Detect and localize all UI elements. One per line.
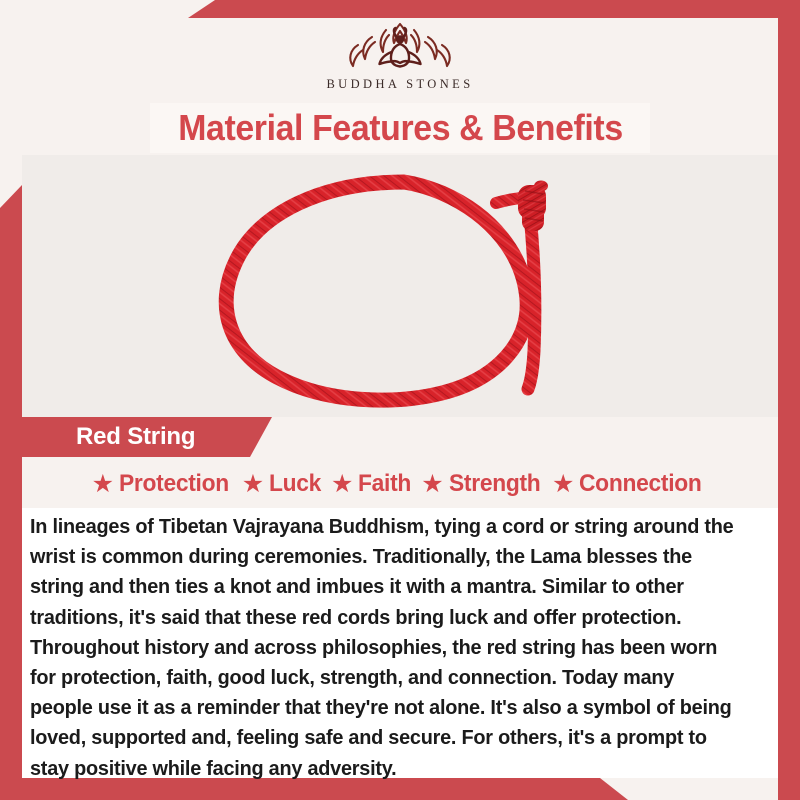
description-panel: In lineages of Tibetan Vajrayana Buddhis… [22, 508, 778, 778]
star-icon: ★ [242, 472, 264, 497]
benefit-badge-strength: ★ Strength [421, 470, 545, 498]
frame-bar-top [0, 0, 800, 18]
benefit-badge-luck: ★ Luck [242, 470, 324, 498]
frame-bar-right [778, 0, 800, 800]
section-ribbon: Red String [22, 417, 272, 457]
brand-logo: BUDDHA STONES [0, 18, 800, 102]
benefit-label: Protection [119, 470, 229, 498]
benefit-badge-connection: ★ Connection [552, 470, 708, 498]
benefit-label: Luck [269, 470, 321, 498]
page-title: Material Features & Benefits [178, 107, 623, 149]
star-icon: ★ [421, 472, 443, 497]
frame-bar-left [0, 0, 22, 800]
star-icon: ★ [92, 472, 114, 497]
benefit-label: Faith [358, 470, 411, 498]
infographic-canvas: BUDDHA STONES Material Features & Benefi… [0, 0, 800, 800]
description-text: In lineages of Tibetan Vajrayana Buddhis… [30, 512, 740, 784]
brand-wordmark: BUDDHA STONES [326, 77, 473, 92]
benefit-label: Connection [579, 470, 702, 498]
benefit-badge-protection: ★ Protection [92, 470, 235, 498]
title-panel: Material Features & Benefits [150, 103, 650, 153]
benefit-badge-faith: ★ Faith [331, 470, 414, 498]
product-image [22, 155, 778, 417]
star-icon: ★ [552, 472, 574, 497]
star-icon: ★ [331, 472, 353, 497]
red-braided-bracelet-illustration [22, 155, 778, 417]
section-title: Red String [76, 423, 195, 451]
benefit-badge-row: ★ Protection ★ Luck ★ Faith ★ Strength ★… [22, 464, 778, 504]
lotus-meditation-figure-icon [336, 18, 464, 76]
benefit-label: Strength [449, 470, 540, 498]
